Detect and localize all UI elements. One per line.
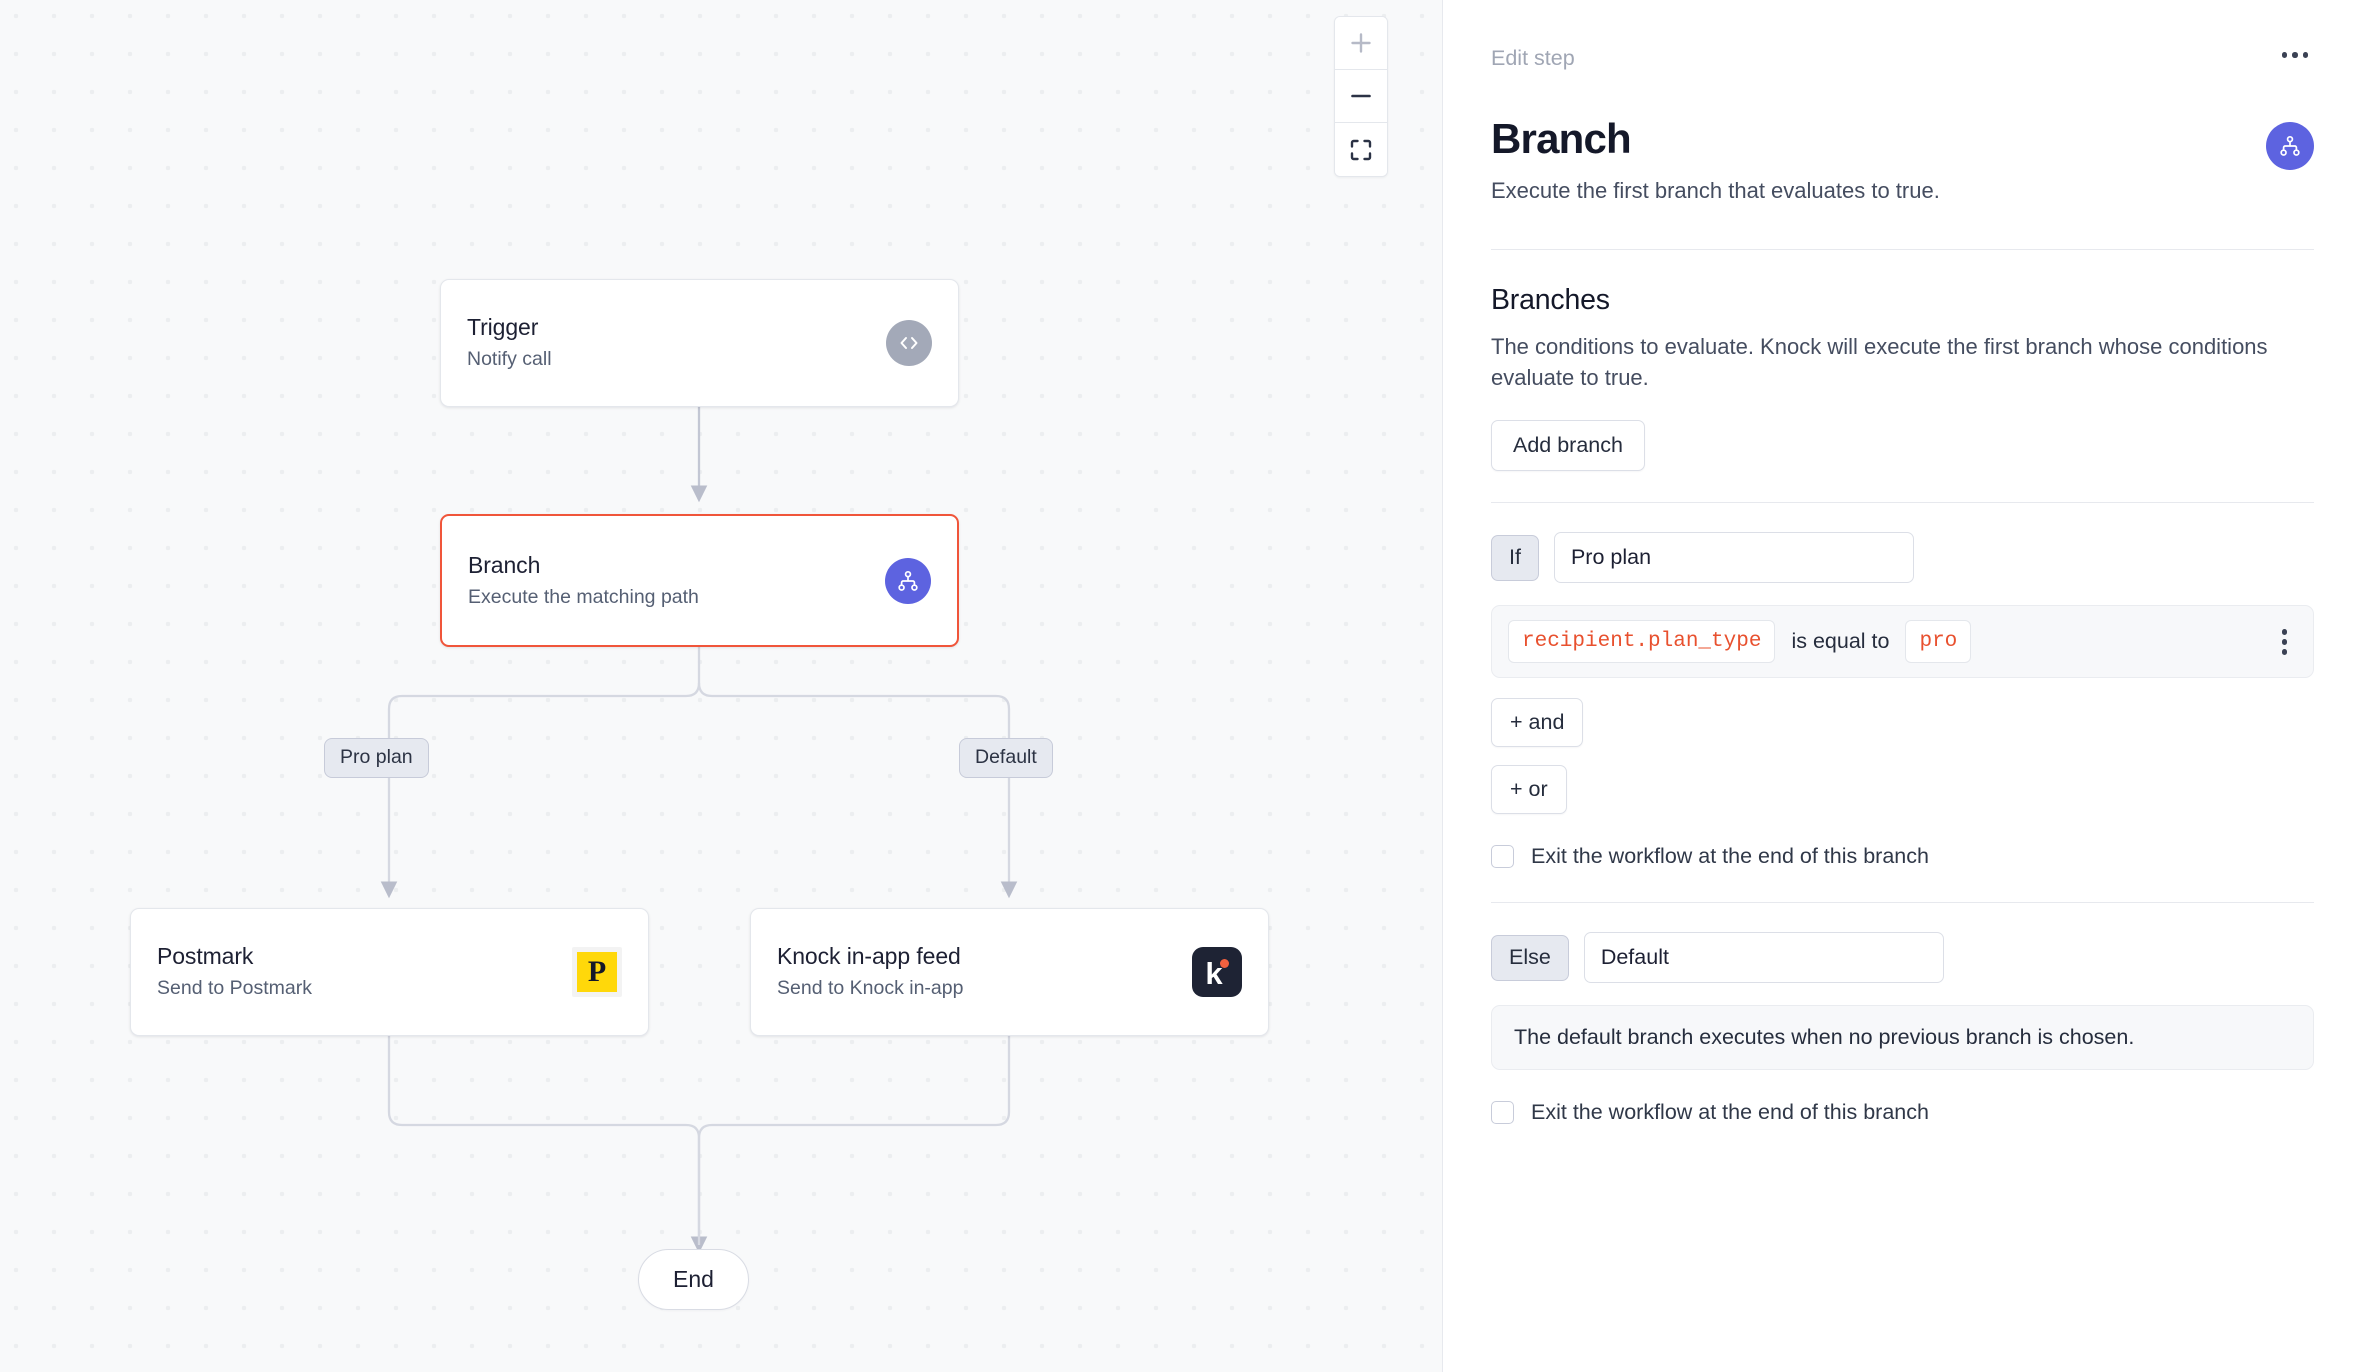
if-branch-exit-checkbox-row[interactable]: Exit the workflow at the end of this bra… xyxy=(1491,844,2314,869)
if-keyword-tag: If xyxy=(1491,535,1539,581)
panel-header-icon-wrap xyxy=(2266,122,2314,170)
branch-icon xyxy=(2266,122,2314,170)
edge-label-pro-plan-text: Pro plan xyxy=(340,746,413,768)
node-trigger-text: Trigger Notify call xyxy=(467,313,870,372)
node-postmark-text: Postmark Send to Postmark xyxy=(157,942,556,1001)
condition-field-chip[interactable]: recipient.plan_type xyxy=(1508,620,1775,663)
panel-topbar: Edit step xyxy=(1491,46,2314,80)
panel-eyebrow: Edit step xyxy=(1491,46,1575,71)
if-branch-name-input[interactable] xyxy=(1554,532,1914,583)
add-or-condition-button[interactable]: + or xyxy=(1491,765,1567,814)
branches-section-title: Branches xyxy=(1491,284,2314,317)
node-branch-icon-wrap xyxy=(885,558,931,604)
canvas-zoom-controls xyxy=(1334,16,1388,177)
plus-icon xyxy=(1348,30,1374,56)
if-branch-header: If xyxy=(1491,532,2314,583)
node-trigger-subtitle: Notify call xyxy=(467,347,870,372)
node-postmark-title: Postmark xyxy=(157,942,556,971)
zoom-out-button[interactable] xyxy=(1335,70,1387,123)
fit-view-icon xyxy=(1348,137,1374,163)
else-branch-divider xyxy=(1491,902,2314,903)
if-branch-divider xyxy=(1491,502,2314,503)
node-end-label: End xyxy=(673,1266,714,1292)
add-branch-button[interactable]: Add branch xyxy=(1491,420,1645,471)
node-knock-in-app-text: Knock in-app feed Send to Knock in-app xyxy=(777,942,1176,1001)
node-branch-title: Branch xyxy=(468,551,869,580)
branch-icon xyxy=(885,558,931,604)
panel-header-text: Branch Execute the first branch that eva… xyxy=(1491,116,2266,206)
page-title: Branch xyxy=(1491,116,2266,162)
if-branch-condition-row: recipient.plan_type is equal to pro xyxy=(1491,605,2314,678)
knock-logo-dot xyxy=(1220,959,1229,968)
knock-logo-icon: k xyxy=(1192,947,1242,997)
add-and-condition-button[interactable]: + and xyxy=(1491,698,1583,747)
node-trigger[interactable]: Trigger Notify call xyxy=(440,279,959,407)
node-postmark-subtitle: Send to Postmark xyxy=(157,976,556,1001)
postmark-stamp-icon: P xyxy=(572,947,622,997)
else-branch-exit-checkbox[interactable] xyxy=(1491,1101,1514,1124)
if-branch-exit-checkbox-label: Exit the workflow at the end of this bra… xyxy=(1531,844,1929,869)
node-knock-in-app-icon-wrap: k xyxy=(1192,947,1242,997)
workflow-canvas[interactable]: Trigger Notify call Branch Execute t xyxy=(0,0,1443,1372)
postmark-stamp-letter: P xyxy=(577,952,617,992)
edit-step-panel: Edit step Branch Execute the first branc… xyxy=(1443,0,2368,1372)
fit-view-button[interactable] xyxy=(1335,123,1387,176)
node-knock-in-app[interactable]: Knock in-app feed Send to Knock in-app k xyxy=(750,908,1269,1036)
panel-description: Execute the first branch that evaluates … xyxy=(1491,176,2266,206)
ellipsis-vertical-icon[interactable] xyxy=(2272,623,2298,661)
node-trigger-title: Trigger xyxy=(467,313,870,342)
code-brackets-icon xyxy=(886,320,932,366)
node-knock-in-app-title: Knock in-app feed xyxy=(777,942,1176,971)
minus-icon xyxy=(1348,83,1374,109)
if-branch-exit-checkbox[interactable] xyxy=(1491,845,1514,868)
else-branch-exit-checkbox-label: Exit the workflow at the end of this bra… xyxy=(1531,1100,1929,1125)
condition-value-chip[interactable]: pro xyxy=(1905,620,1971,663)
panel-header: Branch Execute the first branch that eva… xyxy=(1491,116,2314,206)
ellipsis-horizontal-icon[interactable] xyxy=(2276,46,2315,64)
workflow-edges xyxy=(0,0,1443,1372)
edge-label-default[interactable]: Default xyxy=(959,738,1053,778)
node-branch-text: Branch Execute the matching path xyxy=(468,551,869,610)
node-postmark[interactable]: Postmark Send to Postmark P xyxy=(130,908,649,1036)
workflow-editor: Trigger Notify call Branch Execute t xyxy=(0,0,2368,1372)
node-end[interactable]: End xyxy=(638,1249,749,1310)
else-branch-exit-checkbox-row[interactable]: Exit the workflow at the end of this bra… xyxy=(1491,1100,2314,1125)
edge-label-pro-plan[interactable]: Pro plan xyxy=(324,738,429,778)
edge-label-default-text: Default xyxy=(975,746,1037,768)
else-branch-header: Else xyxy=(1491,932,2314,983)
condition-operator[interactable]: is equal to xyxy=(1791,629,1889,654)
else-branch-name-input[interactable] xyxy=(1584,932,1944,983)
node-branch-subtitle: Execute the matching path xyxy=(468,585,869,610)
else-keyword-tag: Else xyxy=(1491,935,1569,981)
node-branch[interactable]: Branch Execute the matching path xyxy=(440,514,959,647)
panel-divider xyxy=(1491,249,2314,250)
node-trigger-icon-wrap xyxy=(886,320,932,366)
zoom-in-button[interactable] xyxy=(1335,17,1387,70)
else-branch-note: The default branch executes when no prev… xyxy=(1491,1005,2314,1070)
node-postmark-icon-wrap: P xyxy=(572,947,622,997)
node-knock-in-app-subtitle: Send to Knock in-app xyxy=(777,976,1176,1001)
branches-section-description: The conditions to evaluate. Knock will e… xyxy=(1491,331,2314,393)
